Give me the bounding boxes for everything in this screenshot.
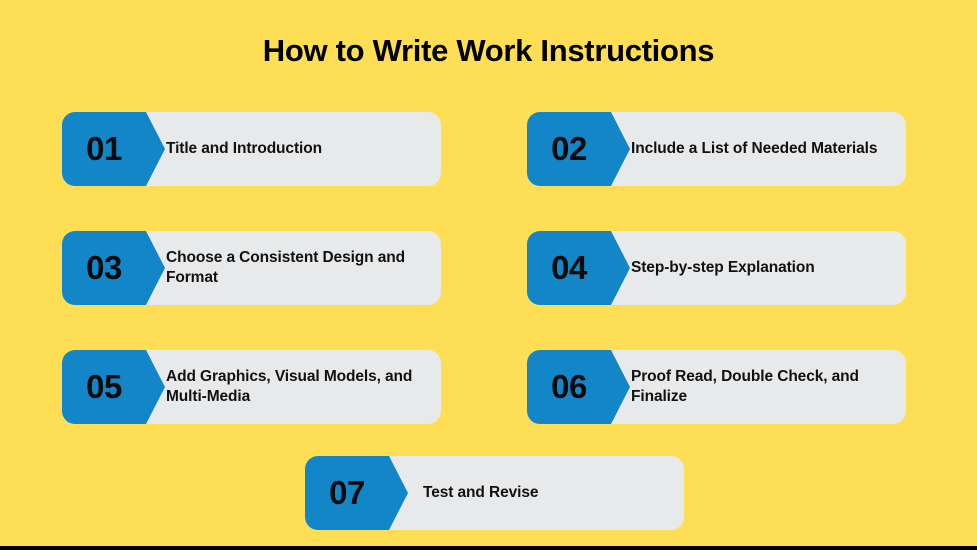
step-label-02: Include a List of Needed Materials [631, 112, 892, 186]
step-label-07: Test and Revise [423, 456, 670, 530]
step-card-06[interactable]: 06 Proof Read, Double Check, and Finaliz… [527, 350, 906, 424]
step-badge-arrow-icon-06 [611, 350, 630, 424]
step-number-04: 04 [527, 231, 611, 305]
page-title: How to Write Work Instructions [0, 33, 977, 69]
step-label-04: Step-by-step Explanation [631, 231, 892, 305]
step-badge-arrow-icon-03 [146, 231, 165, 305]
step-number-07: 07 [305, 456, 389, 530]
step-number-01: 01 [62, 112, 146, 186]
step-label-01: Title and Introduction [166, 112, 427, 186]
step-card-01[interactable]: 01 Title and Introduction [62, 112, 441, 186]
step-card-04[interactable]: 04 Step-by-step Explanation [527, 231, 906, 305]
step-number-02: 02 [527, 112, 611, 186]
step-badge-arrow-icon-04 [611, 231, 630, 305]
step-badge-arrow-icon-05 [146, 350, 165, 424]
step-card-07[interactable]: 07 Test and Revise [305, 456, 684, 530]
step-label-05: Add Graphics, Visual Models, and Multi-M… [166, 350, 427, 424]
step-badge-arrow-icon-07 [389, 456, 408, 530]
step-number-03: 03 [62, 231, 146, 305]
step-label-06: Proof Read, Double Check, and Finalize [631, 350, 892, 424]
step-card-05[interactable]: 05 Add Graphics, Visual Models, and Mult… [62, 350, 441, 424]
step-label-03: Choose a Consistent Design and Format [166, 231, 427, 305]
step-number-06: 06 [527, 350, 611, 424]
step-number-05: 05 [62, 350, 146, 424]
step-badge-arrow-icon-02 [611, 112, 630, 186]
step-badge-arrow-icon-01 [146, 112, 165, 186]
infographic-poster: How to Write Work Instructions 01 Title … [0, 0, 977, 546]
step-card-02[interactable]: 02 Include a List of Needed Materials [527, 112, 906, 186]
step-card-03[interactable]: 03 Choose a Consistent Design and Format [62, 231, 441, 305]
